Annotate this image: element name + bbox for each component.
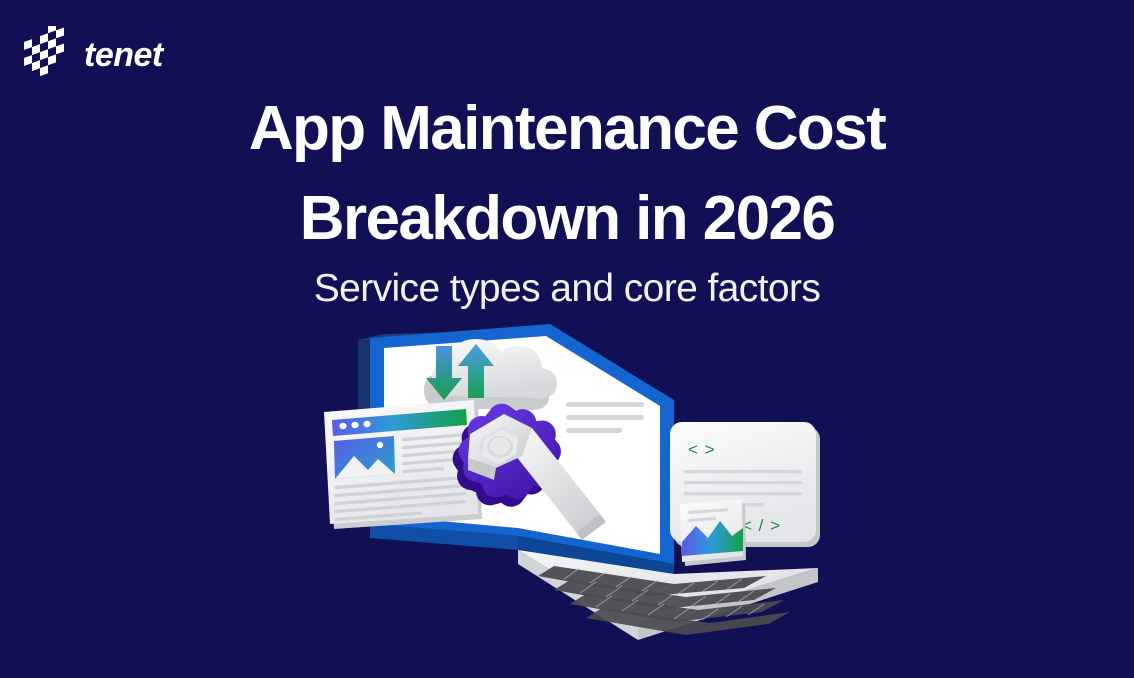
hero-illustration: < > < / > bbox=[318, 318, 838, 678]
poster-canvas: tenet App Maintenance Cost Breakdown in … bbox=[0, 0, 1134, 678]
page-title-line-2: Breakdown in 2026 bbox=[0, 174, 1134, 264]
page-title-line-1: App Maintenance Cost bbox=[0, 84, 1134, 174]
browser-image-placeholder bbox=[334, 436, 395, 479]
analytics-chart-card[interactable] bbox=[680, 499, 746, 566]
code-tag-open: < > bbox=[688, 440, 716, 459]
brand-logo[interactable]: tenet bbox=[24, 26, 163, 84]
code-tag-close: < / > bbox=[742, 516, 781, 535]
page-subtitle: Service types and core factors bbox=[0, 266, 1134, 313]
page-title: App Maintenance Cost Breakdown in 2026 bbox=[0, 84, 1134, 264]
tenet-pixel-logo-icon bbox=[24, 26, 72, 84]
brand-wordmark: tenet bbox=[84, 38, 163, 72]
